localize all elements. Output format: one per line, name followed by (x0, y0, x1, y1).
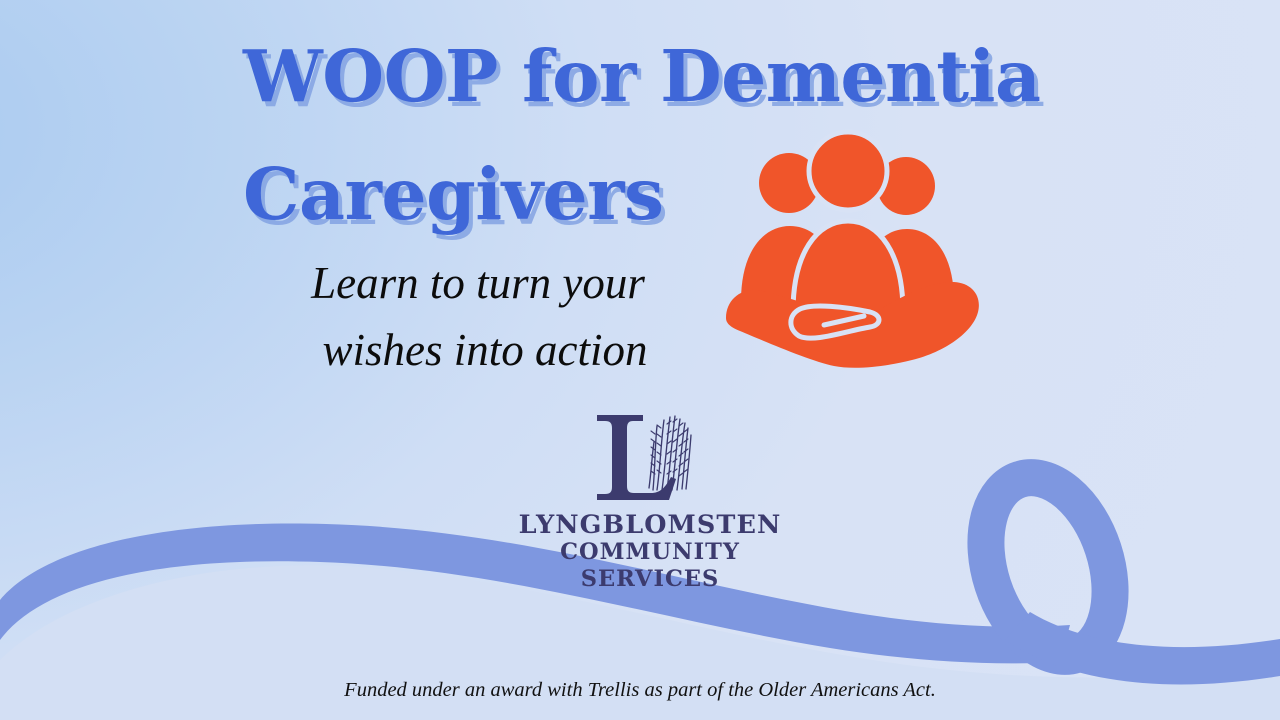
logo-name-line-2: COMMUNITY SERVICES (510, 539, 790, 593)
presentation-slide: WOOP for Dementia Caregivers Learn to tu… (0, 0, 1280, 720)
logo-letter-L (597, 415, 676, 500)
person-center-head (809, 132, 887, 210)
lyngblomsten-logo: LYNGBLOMSTEN COMMUNITY SERVICES (510, 404, 790, 593)
ribbon-loop (964, 462, 1131, 673)
lyngblomsten-L-heather-logo (585, 404, 715, 509)
subtitle: Learn to turn your wishes into action (268, 250, 688, 384)
ribbon-tail (1005, 612, 1280, 684)
subtitle-line-2: wishes into action (268, 317, 688, 384)
funding-disclaimer: Funded under an award with Trellis as pa… (0, 679, 1280, 702)
logo-name-line-1: LYNGBLOMSTEN (510, 511, 790, 539)
title-line-1: WOOP for Dementia (243, 17, 1063, 135)
people-in-hand-icon (714, 126, 984, 378)
subtitle-line-1: Learn to turn your (268, 250, 688, 317)
